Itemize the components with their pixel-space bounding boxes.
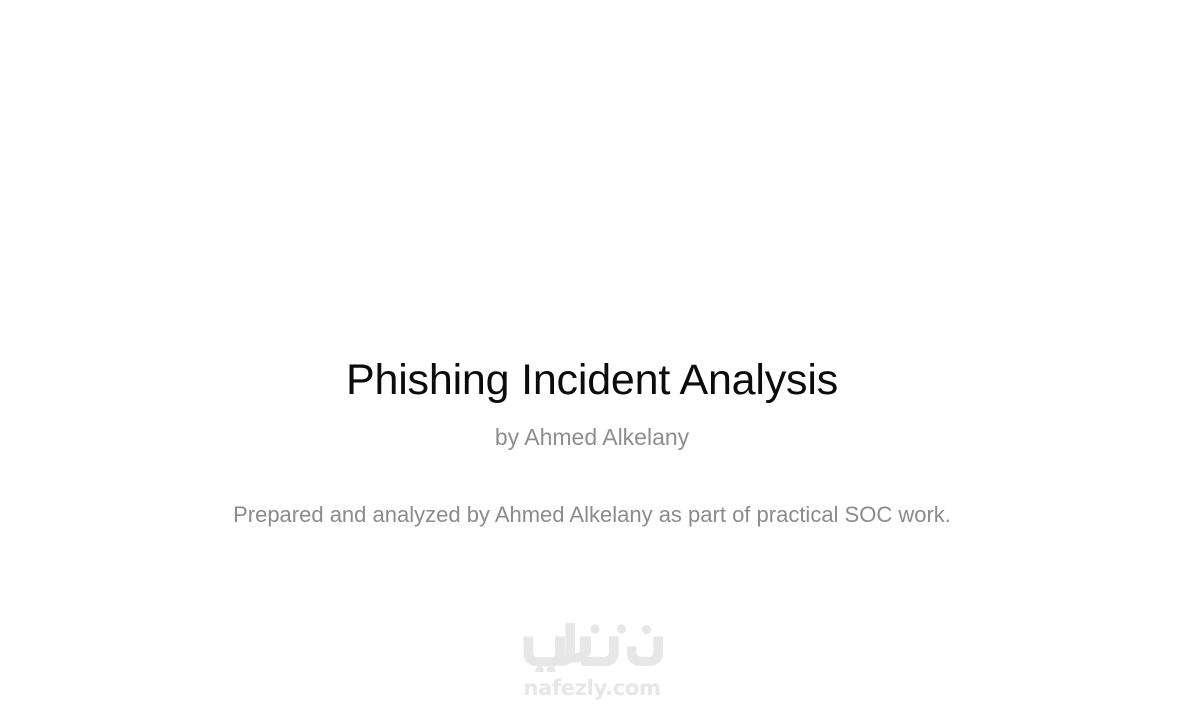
cover-page: Phishing Incident Analysis by Ahmed Alke… — [0, 0, 1184, 705]
page-title: Phishing Incident Analysis — [0, 352, 1184, 408]
blank-top-area — [0, 0, 1184, 352]
nafezly-domain-text: nafezly.com — [517, 674, 667, 702]
nafezly-arabic-wordmark-icon — [517, 622, 667, 672]
project-description: Prepared and analyzed by Ahmed Alkelany … — [0, 452, 1184, 530]
title-block: Phishing Incident Analysis by Ahmed Alke… — [0, 352, 1184, 530]
nafezly-watermark: nafezly.com — [0, 622, 1184, 702]
author-byline: by Ahmed Alkelany — [0, 408, 1184, 452]
nafezly-domain-label: nafezly.com — [523, 676, 660, 700]
